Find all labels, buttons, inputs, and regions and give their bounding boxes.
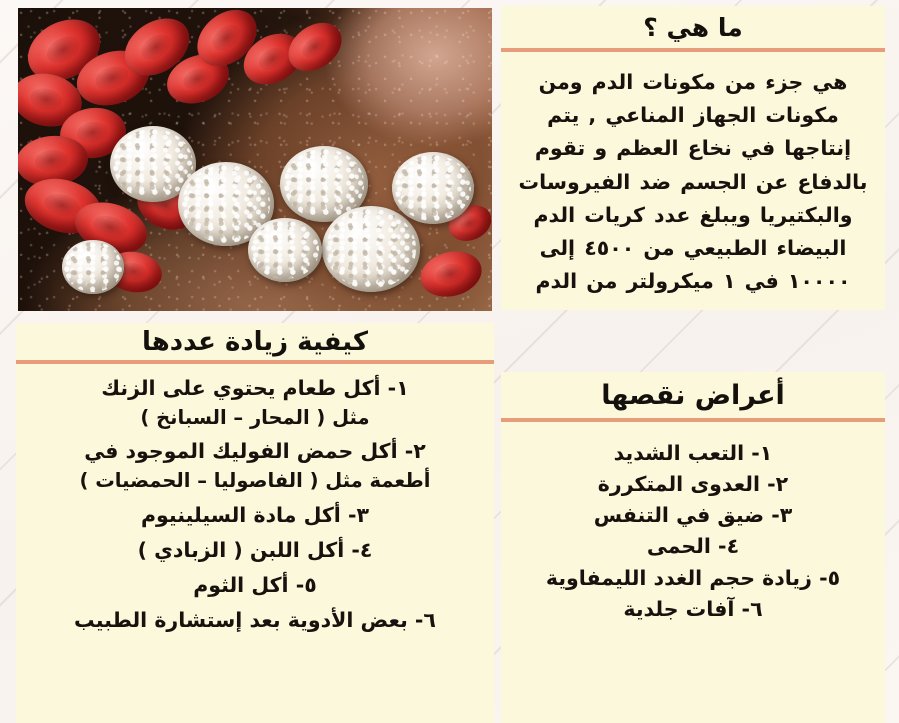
list-item: ٤- الحمى	[519, 531, 867, 562]
white-blood-cell	[322, 206, 420, 292]
blood-cells-micrograph	[18, 8, 492, 311]
panel-how-to-increase: كيفية زيادة عددها ١- أكل طعام يحتوي على …	[16, 323, 494, 723]
panel-increase-title: كيفية زيادة عددها	[142, 329, 368, 355]
list-item-main: ٦- بعض الأدوية بعد إستشارة الطبيب	[74, 608, 436, 632]
panel-what-is-header: ما هي ؟	[501, 6, 885, 52]
list-item: ٣- أكل مادة السيلينيوم	[34, 501, 476, 531]
panel-deficiency-symptoms: أعراض نقصها ١- التعب الشديد ٢- العدوى ال…	[501, 372, 885, 723]
list-item-continuation: مثل ( المحار – السبانخ )	[34, 404, 476, 432]
list-item: ٦- بعض الأدوية بعد إستشارة الطبيب	[34, 606, 476, 636]
list-item: ٥- أكل الثوم	[34, 571, 476, 601]
list-item: ١- أكل طعام يحتوي على الزنك مثل ( المحار…	[34, 374, 476, 432]
panel-symptoms-title: أعراض نقصها	[601, 382, 785, 409]
list-item: ٢- أكل حمض الفوليك الموجود في أطعمة مثل …	[34, 437, 476, 495]
panel-symptoms-header: أعراض نقصها	[501, 372, 885, 422]
list-item: ١- التعب الشديد	[519, 438, 867, 469]
list-item: ٤- أكل اللبن ( الزبادي )	[34, 536, 476, 566]
list-item-main: ٥- أكل الثوم	[193, 573, 317, 597]
panel-symptoms-body: ١- التعب الشديد ٢- العدوى المتكررة ٣- ضي…	[501, 422, 885, 635]
infographic-stage: ما هي ؟ هي جزء من مكونات الدم ومن مكونات…	[0, 0, 899, 723]
list-item: ٣- ضيق في التنفس	[519, 500, 867, 531]
panel-increase-body: ١- أكل طعام يحتوي على الزنك مثل ( المحار…	[16, 364, 494, 648]
panel-increase-header: كيفية زيادة عددها	[16, 323, 494, 364]
white-blood-cell	[62, 240, 124, 294]
list-item: ٦- آفات جلدية	[519, 594, 867, 625]
list-item-main: ٢- أكل حمض الفوليك الموجود في	[84, 439, 426, 463]
panel-what-is-body: هي جزء من مكونات الدم ومن مكونات الجهاز …	[501, 52, 885, 310]
list-item-main: ١- أكل طعام يحتوي على الزنك	[101, 376, 408, 400]
list-item-main: ٤- أكل اللبن ( الزبادي )	[138, 538, 373, 562]
panel-what-is-title: ما هي ؟	[643, 15, 742, 40]
list-item: ٢- العدوى المتكررة	[519, 469, 867, 500]
white-blood-cell	[392, 152, 474, 224]
white-blood-cell	[248, 218, 322, 282]
panel-what-is-paragraph: هي جزء من مكونات الدم ومن مكونات الجهاز …	[515, 66, 871, 298]
list-item-main: ٣- أكل مادة السيلينيوم	[141, 503, 369, 527]
list-item: ٥- زيادة حجم الغدد الليمفاوية	[519, 563, 867, 594]
list-item-continuation: أطعمة مثل ( الفاصوليا – الحمضيات )	[34, 467, 476, 495]
panel-what-is: ما هي ؟ هي جزء من مكونات الدم ومن مكونات…	[501, 6, 885, 310]
